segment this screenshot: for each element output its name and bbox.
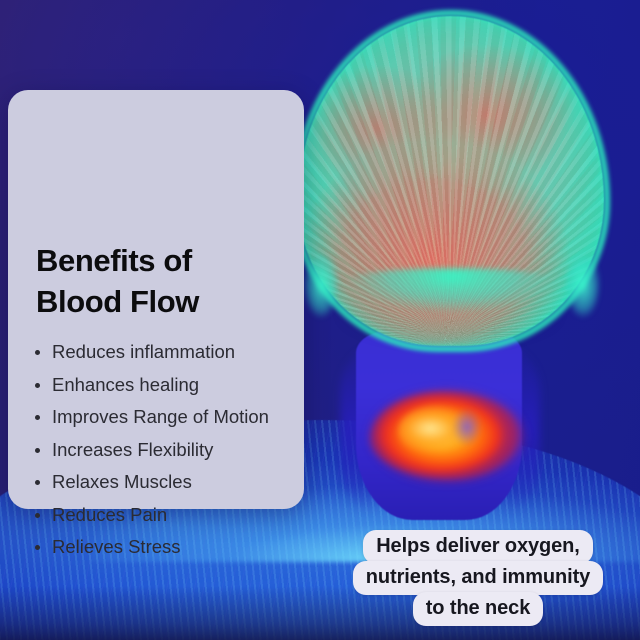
benefits-list: Reduces inflammation Enhances healing Im… [32,336,302,564]
caption-line-3: to the neck [330,592,626,626]
page-title: Benefits ofBlood Flow [36,240,286,322]
caption-line-1: Helps deliver oxygen, [330,530,626,564]
list-item: Improves Range of Motion [32,401,302,434]
list-item: Reduces Pain [32,499,302,532]
neck-hotspot-cool-patch [447,404,487,450]
caption-line-2: nutrients, and immunity [330,561,626,595]
caption-box: Helps deliver oxygen, nutrients, and imm… [330,530,626,626]
poster: Benefits ofBlood Flow Reduces inflammati… [0,0,640,640]
list-item: Enhances healing [32,369,302,402]
list-item: Relieves Stress [32,531,302,564]
list-item: Relaxes Muscles [32,466,302,499]
list-item: Reduces inflammation [32,336,302,369]
benefits-card: Benefits ofBlood Flow Reduces inflammati… [8,90,304,509]
list-item: Increases Flexibility [32,434,302,467]
